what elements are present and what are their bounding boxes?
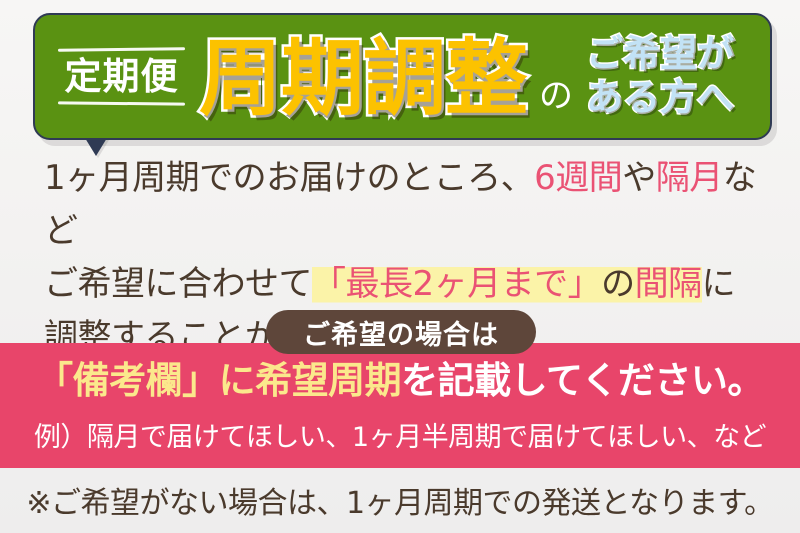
body-line1-accent-2: 隔月 [656,158,723,198]
request-case-pill: ご希望の場合は [266,310,536,354]
instruction-band: 「備考欄」に希望周期を記載してください。 例）隔月で届けてほしい、1ヶ月半周期で… [0,343,800,468]
header-banner: 定期便 周期調整 の ご希望が ある方へ [33,13,772,140]
target-audience-text: ご希望が ある方へ [586,35,734,116]
instruction-headline: 「備考欄」に希望周期を記載してください。 [0,361,800,402]
page-title: 周期調整 [199,37,527,120]
body-line1-part-a: 1ヶ月周期でのお届けのところ、 [44,158,534,198]
body-line1-accent-1: 6週間 [534,158,622,198]
subscription-badge: 定期便 [58,48,185,104]
footer-note: ※ご希望がない場合は、1ヶ月周期での発送となります。 [0,478,800,522]
badge-rule-bottom-icon [58,101,185,105]
instruction-headline-rest: を記載してください。 [401,359,764,402]
body-line-1: 1ヶ月周期でのお届けのところ、6週間や隔月など [44,152,774,258]
body-line2-highlight-accent-2: 間隔 [635,264,702,304]
body-line2-part-a: ご希望に合わせて [44,264,312,304]
audience-line-2: ある方へ [586,79,734,116]
badge-rule-top-icon [58,48,185,53]
body-line1-part-b: や [622,158,656,198]
audience-line-1: ご希望が [586,35,734,72]
body-line2-part-b: に [702,264,736,304]
body-line-2: ご希望に合わせて「最長2ヶ月まで」の間隔に [44,258,774,311]
subscription-badge-label: 定期便 [65,57,179,96]
title-particle: の [539,68,573,117]
body-line2-highlight-plain: の [601,264,635,304]
request-case-pill-label: ご希望の場合は [303,313,499,352]
body-line2-highlight-accent-1: 「最長2ヶ月まで」 [312,264,601,304]
instruction-headline-highlight: 「備考欄」に希望周期 [36,359,401,402]
instruction-example: 例）隔月で届けてほしい、1ヶ月半周期で届けてほしい、など [0,415,800,454]
